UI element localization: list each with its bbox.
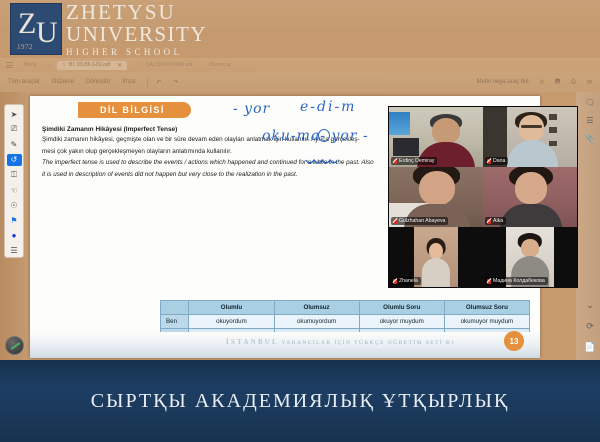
- mute-icon: [393, 219, 397, 224]
- brand-wordmark: ZHETYSU UNIVERSITY HIGHER SCHOOL OF HUMA…: [66, 2, 207, 58]
- pronoun-cell: Ben: [161, 315, 189, 329]
- undo-icon[interactable]: ↶: [156, 79, 161, 86]
- logo-year: 1972: [17, 43, 33, 51]
- banner-title: СЫРТҚЫ АКАДЕМИЯЛЫҚ ҰТҚЫРЛЫҚ: [91, 390, 510, 413]
- menu-hamburger-icon[interactable]: [6, 62, 13, 68]
- pdf-tab-bar: Menü ⌂ ☆ B1 DİLBİLGİSİ.pdf ✕ ☐ ÇALIŞMA K…: [0, 58, 600, 72]
- page-number-badge: 13: [504, 331, 524, 351]
- participant-name-label: Gulzhahan Abayeva: [391, 217, 448, 225]
- participant-name-label: Dana: [485, 157, 508, 165]
- attachment-icon[interactable]: 📎: [585, 134, 595, 143]
- participant-name: Мадина Колдабекова: [493, 278, 545, 284]
- footer-subtitle: YABANCILAR İÇİN TÜRKÇE ÖĞRETİM SETİ B1: [281, 340, 455, 346]
- eraser-tool-icon[interactable]: ☉: [7, 199, 22, 211]
- tab-calisma-kitabi-label: ÇALIŞMA KİTABI.pdf: [146, 62, 193, 68]
- tab-menu[interactable]: Menü: [19, 61, 42, 69]
- table-header-olumlu-soru: Olumlu Soru: [359, 301, 444, 315]
- pdf-toolbar: Tüm araçlar Düzenle Dönüştür İmza ↶ ↷ Me…: [0, 72, 600, 92]
- table-header-olumsuz: Olumsuz: [274, 301, 359, 315]
- select-area-tool-icon[interactable]: ⎚: [7, 123, 22, 135]
- page-icon[interactable]: 📄: [584, 342, 595, 353]
- rotate-icon[interactable]: ⟳: [586, 321, 594, 332]
- color-swatch-icon[interactable]: ●: [7, 230, 22, 242]
- pin-tool-icon[interactable]: ⚑: [7, 214, 22, 226]
- table-corner-cell: [161, 301, 189, 315]
- table-header-row: Olumlu Olumsuz Olumlu Soru Olumsuz Soru: [161, 301, 530, 315]
- video-call-grid[interactable]: Erdinç Demiray Dana Gulzhahan Abayeva: [388, 106, 578, 288]
- participant-name-label: Aika: [485, 217, 506, 225]
- video-tile[interactable]: Aika: [483, 167, 577, 227]
- page-footer: İSTANBUL YABANCILAR İÇİN TÜRKÇE ÖĞRETİM …: [30, 332, 540, 358]
- comment-icon[interactable]: 🗨: [585, 98, 595, 107]
- table-cell: okumuyor muydum: [444, 315, 529, 329]
- section-chip: DİL BİLGİSİ: [78, 102, 191, 118]
- participant-name: Dana: [493, 158, 505, 164]
- footer-brand: İSTANBUL: [226, 338, 279, 346]
- table-cell: okumuyordum: [274, 315, 359, 329]
- participant-name-label: Мадина Колдабекова: [485, 277, 548, 285]
- footer-brand-text: İSTANBUL YABANCILAR İÇİN TÜRKÇE ÖĞRETİM …: [226, 338, 455, 346]
- menu-convert[interactable]: Dönüştür: [86, 79, 110, 85]
- tab-menu-label: Menü: [24, 62, 37, 68]
- tab-calisma-kitabi[interactable]: ☐ ÇALIŞMA KİTABI.pdf: [133, 61, 197, 69]
- menu-edit[interactable]: Düzenle: [52, 79, 74, 85]
- logo-letter-z: Z: [18, 7, 35, 41]
- mute-icon: [487, 279, 491, 284]
- handwriting-squiggle-mark: [305, 157, 339, 167]
- share-icon[interactable]: ✉: [587, 79, 592, 86]
- pencil-fab-button[interactable]: [5, 336, 24, 355]
- brand-line-1: ZHETYSU: [66, 2, 207, 23]
- menu-all-tools[interactable]: Tüm araçlar: [8, 79, 40, 85]
- participant-name: Zhanelä: [399, 278, 418, 284]
- participant-name: Gulzhahan Abayeva: [399, 218, 445, 224]
- right-tool-strip-top: 🗨 ☰ 📎: [582, 98, 598, 168]
- stamp-tool-icon[interactable]: ☜: [7, 184, 22, 196]
- logo-letter-u: U: [36, 16, 58, 50]
- brand-line-2: UNIVERSITY: [66, 23, 207, 45]
- text-box-tool-icon[interactable]: ⎅: [7, 169, 22, 181]
- cursor-tool-icon[interactable]: ➤: [7, 108, 22, 120]
- draw-tool-icon[interactable]: ↺: [7, 154, 22, 166]
- close-icon[interactable]: ✕: [117, 62, 122, 69]
- tab-dilbilgisi[interactable]: ☆ B1 DİLBİLGİSİ.pdf ✕: [57, 61, 128, 70]
- mute-icon: [393, 279, 397, 284]
- chevron-down-icon[interactable]: ⌄: [586, 300, 594, 311]
- tab-dilbilgisi-label: B1 DİLBİLGİSİ.pdf: [69, 62, 110, 68]
- university-brand-bar: Z U 1972 ZHETYSU UNIVERSITY HIGHER SCHOO…: [0, 0, 600, 58]
- sign-in-label: Oturum aç: [209, 62, 232, 68]
- table-row: Ben okuyordum okumuyordum okuyor muydum …: [161, 315, 530, 329]
- bottom-banner: СЫРТҚЫ АКАДЕМИЯЛЫҚ ҰТҚЫРЛЫҚ: [0, 360, 600, 442]
- save-icon[interactable]: 🖪: [555, 77, 560, 87]
- participant-name: Erdinç Demiray: [399, 158, 434, 164]
- menu-sign[interactable]: İmza: [122, 79, 135, 85]
- doc-icon: ☐: [138, 62, 142, 68]
- video-tile[interactable]: Dana: [483, 107, 577, 167]
- toolbar-divider: [147, 77, 148, 87]
- table-header-olumsuz-soru: Olumsuz Soru: [444, 301, 529, 315]
- participant-name-label: Erdinç Demiray: [391, 157, 437, 165]
- mute-icon: [393, 159, 397, 164]
- video-tile[interactable]: Gulzhahan Abayeva: [389, 167, 483, 227]
- video-tile[interactable]: Erdinç Demiray: [389, 107, 483, 167]
- bookmark-icon[interactable]: ☰: [586, 116, 593, 125]
- participant-name-label: Zhanelä: [391, 277, 421, 285]
- zhetysu-university-logo: Z U 1972: [10, 3, 62, 55]
- star-icon[interactable]: ☆: [62, 62, 66, 68]
- highlight-pen-tool-icon[interactable]: ✎: [7, 138, 22, 150]
- home-icon[interactable]: ⌂: [48, 62, 51, 68]
- annotation-tool-palette: ➤ ⎚ ✎ ↺ ⎅ ☜ ☉ ⚑ ● ☰: [4, 104, 24, 258]
- print-icon[interactable]: ⎙: [571, 79, 576, 86]
- search-input[interactable]: Metin veya araç bul: [477, 79, 529, 85]
- mute-icon: [487, 219, 491, 224]
- video-tile[interactable]: Zhanelä: [389, 227, 483, 287]
- mute-icon: [487, 159, 491, 164]
- brand-line-3: HIGHER SCHOOL: [66, 46, 207, 58]
- sign-in-button[interactable]: Oturum aç: [204, 61, 237, 69]
- video-tile[interactable]: Мадина Колдабекова: [483, 227, 577, 287]
- toolbar-right-group: Metin veya araç bul ⚲ 🖪 ⎙ ✉: [477, 77, 592, 87]
- participant-name: Aika: [493, 218, 503, 224]
- handwriting-circle-mark: [318, 129, 330, 142]
- table-cell: okuyor muydum: [359, 315, 444, 329]
- search-icon[interactable]: ⚲: [540, 79, 544, 86]
- right-tool-strip-bottom: ⌄ ⟳ 📄 ⚲: [582, 300, 598, 362]
- redo-icon[interactable]: ↷: [173, 79, 178, 86]
- table-header-olumlu: Olumlu: [189, 301, 274, 315]
- table-cell: okuyordum: [189, 315, 274, 329]
- thickness-tool-icon[interactable]: ☰: [7, 245, 22, 257]
